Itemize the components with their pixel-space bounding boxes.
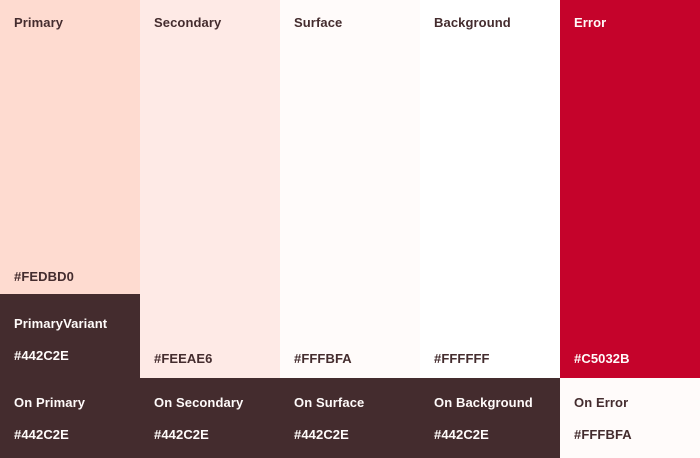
on-label: On Surface [294,395,364,411]
swatch-on-secondary[interactable]: On Secondary #442C2E [140,378,280,458]
variant-hex-value: #442C2E [14,348,69,364]
on-hex-value: #442C2E [14,427,69,443]
swatch-primary[interactable]: Primary #FEDBD0 [0,0,140,294]
on-label: On Background [434,395,533,411]
palette-column-surface: Surface #FFFBFA On Surface #442C2E [280,0,420,458]
palette-column-primary: Primary #FEDBD0 PrimaryVariant #442C2E O… [0,0,140,458]
swatch-on-surface[interactable]: On Surface #442C2E [280,378,420,458]
swatch-label: Secondary [154,15,221,31]
palette-column-secondary: Secondary #FEEAE6 On Secondary #442C2E [140,0,280,458]
swatch-secondary[interactable]: Secondary #FEEAE6 [140,0,280,378]
swatch-on-error[interactable]: On Error #FFFBFA [560,378,700,458]
on-label: On Error [574,395,628,411]
swatch-hex-value: #FFFFFF [434,351,490,367]
palette-column-error: Error #C5032B On Error #FFFBFA [560,0,700,458]
swatch-label: Error [574,15,606,31]
swatch-label: Background [434,15,511,31]
variant-label: PrimaryVariant [14,316,107,332]
swatch-hex-value: #FEDBD0 [14,269,74,285]
on-hex-value: #442C2E [154,427,209,443]
on-hex-value: #442C2E [434,427,489,443]
swatch-label: Primary [14,15,63,31]
swatch-surface[interactable]: Surface #FFFBFA [280,0,420,378]
on-hex-value: #FFFBFA [574,427,632,443]
on-label: On Secondary [154,395,243,411]
swatch-hex-value: #FFFBFA [294,351,352,367]
color-palette: Primary #FEDBD0 PrimaryVariant #442C2E O… [0,0,700,458]
swatch-on-background[interactable]: On Background #442C2E [420,378,560,458]
swatch-on-primary[interactable]: On Primary #442C2E [0,378,140,458]
swatch-label: Surface [294,15,342,31]
swatch-hex-value: #C5032B [574,351,630,367]
on-label: On Primary [14,395,85,411]
swatch-hex-value: #FEEAE6 [154,351,213,367]
swatch-error[interactable]: Error #C5032B [560,0,700,378]
palette-column-background: Background #FFFFFF On Background #442C2E [420,0,560,458]
on-hex-value: #442C2E [294,427,349,443]
swatch-background[interactable]: Background #FFFFFF [420,0,560,378]
swatch-primary-variant[interactable]: PrimaryVariant #442C2E [0,294,140,378]
